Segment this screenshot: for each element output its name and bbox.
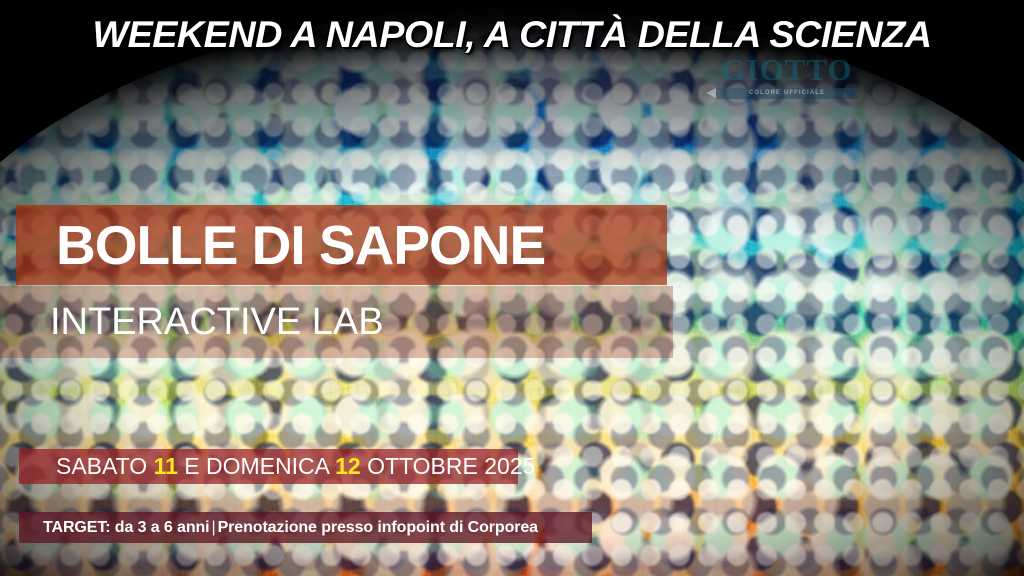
page-title: BOLLE DI SAPONE: [56, 218, 545, 273]
event-series-title: WEEKEND A NAPOLI, A CITTÀ DELLA SCIENZA: [0, 14, 1024, 56]
subheadline-banner: INTERACTIVE LAB: [0, 286, 673, 358]
date-banner: SABATO 11 E DOMENICA 12 OTTOBRE 2025: [19, 449, 518, 484]
target-info-banner: TARGET: da 3 a 6 anni|Prenotazione press…: [19, 512, 592, 543]
date-day-1: 11: [154, 453, 178, 479]
target-audience: TARGET: da 3 a 6 anni: [43, 519, 210, 536]
target-separator: |: [210, 519, 218, 536]
target-info: TARGET: da 3 a 6 anni|Prenotazione press…: [43, 519, 538, 537]
event-dates: SABATO 11 E DOMENICA 12 OTTOBRE 2025: [56, 453, 535, 480]
date-prefix: SABATO: [56, 453, 154, 479]
poster-root: GIOTTO COLORE UFFICIALE Fila - Fabbrica …: [0, 0, 1024, 576]
page-subtitle: INTERACTIVE LAB: [50, 303, 384, 341]
headline-banner: BOLLE DI SAPONE: [16, 205, 667, 285]
date-middle: E DOMENICA: [178, 453, 335, 479]
date-day-2: 12: [335, 453, 361, 479]
booking-info: Prenotazione presso infopoint di Corpore…: [218, 519, 538, 536]
date-suffix: OTTOBRE 2025: [361, 453, 536, 479]
